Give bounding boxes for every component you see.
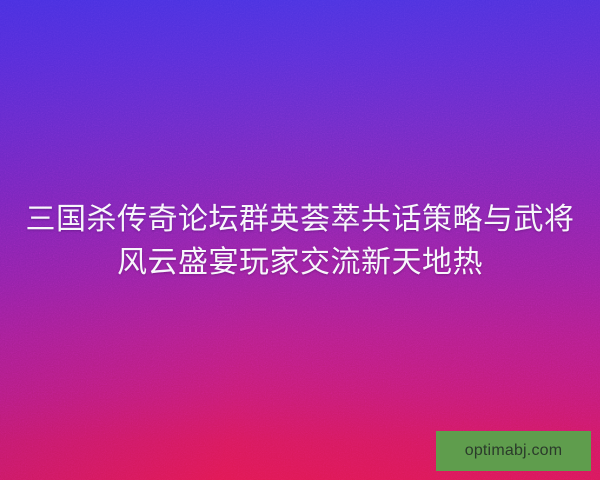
title-line-1: 三国杀传奇论坛群英荟萃共话策略与武将 [18,198,582,241]
page-title: 三国杀传奇论坛群英荟萃共话策略与武将 风云盛宴玩家交流新天地热 [0,198,600,284]
title-line-2: 风云盛宴玩家交流新天地热 [18,241,582,284]
watermark-badge[interactable]: optimabj.com [436,431,591,471]
thumbnail-card: 三国杀传奇论坛群英荟萃共话策略与武将 风云盛宴玩家交流新天地热 optimabj… [0,0,600,480]
watermark-label: optimabj.com [465,443,563,459]
